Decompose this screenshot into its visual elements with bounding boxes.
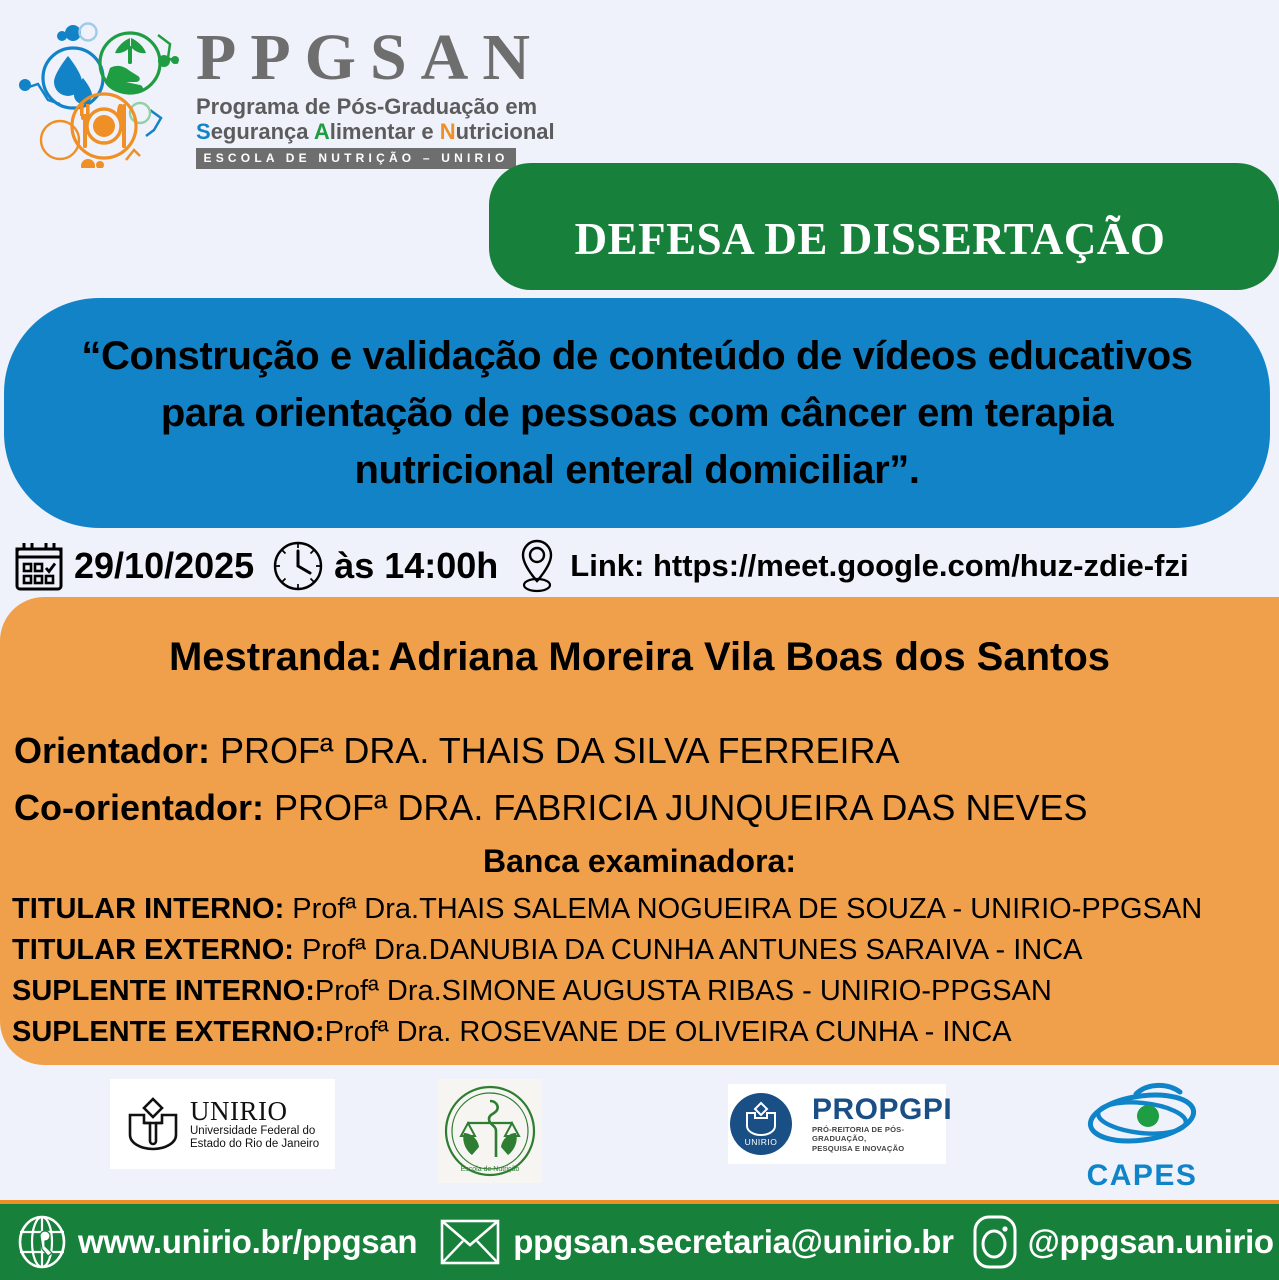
- sponsor-capes: CAPES: [1062, 1082, 1222, 1182]
- dissertation-title-line1: “Construção e validação de conteúdo de v…: [30, 328, 1244, 385]
- ppgsan-school-strip: ESCOLA DE NUTRIÇÃO – UNIRIO: [196, 148, 516, 169]
- dissertation-title-line3: nutricional enteral domiciliar”.: [30, 442, 1244, 499]
- sponsor-unirio-name: UNIRIO: [190, 1097, 319, 1125]
- sponsor-unirio-sub1: Universidade Federal do: [190, 1125, 319, 1138]
- banca-item: TITULAR INTERNO: Profª Dra.THAIS SALEMA …: [12, 889, 1272, 930]
- event-time-text: às 14:00h: [334, 545, 498, 587]
- sponsor-logos: UNIRIO Universidade Federal do Estado do…: [0, 1078, 1279, 1190]
- svg-text:Escola de Nutrição: Escola de Nutrição: [461, 1166, 520, 1173]
- event-date-text: 29/10/2025: [74, 545, 254, 587]
- event-type-banner: DEFESA DE DISSERTAÇÃO: [489, 163, 1279, 290]
- orientador-name: PROFª DRA. THAIS DA SILVA FERREIRA: [210, 730, 899, 771]
- banca-role: TITULAR EXTERNO:: [12, 934, 294, 966]
- propgpi-crest-icon: UNIRIO: [728, 1091, 794, 1157]
- footer-instagram[interactable]: @ppgsan.unirio: [972, 1214, 1274, 1270]
- banca-item: TITULAR EXTERNO: Profª Dra.DANUBIA DA CU…: [12, 930, 1272, 971]
- banca-role: SUPLENTE INTERNO:: [12, 975, 315, 1007]
- ppgsan-tagline-line2: Segurança Alimentar e Nutricional: [196, 119, 516, 145]
- banca-list: TITULAR INTERNO: Profª Dra.THAIS SALEMA …: [12, 889, 1272, 1053]
- sponsor-propgpi: UNIRIO PROPGPI PRÓ-REITORIA DE PÓS-GRADU…: [728, 1084, 946, 1164]
- ppgsan-logo-mark: [18, 18, 198, 168]
- details-panel: Mestranda:Adriana Moreira Vila Boas dos …: [0, 597, 1279, 1065]
- globe-icon: [16, 1214, 68, 1270]
- instagram-icon: [972, 1214, 1018, 1270]
- ppgsan-tagline-line1: Programa de Pós-Graduação em: [196, 94, 516, 119]
- svg-text:UNIRIO: UNIRIO: [745, 1137, 778, 1147]
- orientador-label: Orientador:: [14, 730, 210, 771]
- banca-name: Profª Dra.DANUBIA DA CUNHA ANTUNES SARAI…: [294, 934, 1083, 966]
- dissertation-title-banner: “Construção e validação de conteúdo de v…: [4, 298, 1270, 528]
- clock-icon: [272, 540, 324, 592]
- ppgsan-logo-graphic: [18, 18, 198, 168]
- sponsor-propgpi-sub2: PESQUISA E INOVAÇÃO: [812, 1144, 952, 1154]
- sponsor-escola-nutricao: Escola de Nutrição: [438, 1079, 542, 1183]
- footer-email[interactable]: ppgsan.secretaria@unirio.br: [439, 1217, 953, 1267]
- banca-role: TITULAR INTERNO:: [12, 893, 284, 925]
- sponsor-unirio: UNIRIO Universidade Federal do Estado do…: [110, 1079, 335, 1169]
- footer-contact-bar: www.unirio.br/ppgsan ppgsan.secretaria@u…: [0, 1204, 1279, 1280]
- sponsor-capes-name: CAPES: [1062, 1159, 1222, 1193]
- coorientador-label: Co-orientador:: [14, 787, 264, 828]
- banca-role: SUPLENTE EXTERNO:: [12, 1016, 325, 1048]
- banca-name: Profª Dra.SIMONE AUGUSTA RIBAS - UNIRIO-…: [315, 975, 1052, 1007]
- unirio-crest-icon: [122, 1093, 184, 1155]
- envelope-icon: [439, 1217, 501, 1267]
- mestranda-name: Adriana Moreira Vila Boas dos Santos: [388, 635, 1110, 679]
- location-pin-icon: [514, 538, 560, 594]
- banca-name: Profª Dra. ROSEVANE DE OLIVEIRA CUNHA - …: [325, 1016, 1012, 1048]
- escola-nutricao-seal-icon: Escola de Nutrição: [442, 1083, 538, 1179]
- event-link-text[interactable]: Link: https://meet.google.com/huz-zdie-f…: [570, 548, 1188, 584]
- capes-ellipse-icon: [1062, 1082, 1222, 1152]
- header: PPGSAN Programa de Pós-Graduação em Segu…: [0, 0, 1279, 175]
- calendar-icon: [14, 540, 64, 592]
- banca-name: Profª Dra.THAIS SALEMA NOGUEIRA DE SOUZA…: [284, 893, 1202, 925]
- dissertation-title: “Construção e validação de conteúdo de v…: [30, 328, 1244, 499]
- mestranda-line: Mestranda:Adriana Moreira Vila Boas dos …: [0, 635, 1279, 680]
- ppgsan-logo-text: PPGSAN Programa de Pós-Graduação em Segu…: [196, 22, 516, 170]
- sponsor-unirio-sub2: Estado do Rio de Janeiro: [190, 1138, 319, 1151]
- footer-website[interactable]: www.unirio.br/ppgsan: [16, 1214, 417, 1270]
- mestranda-label: Mestranda:: [169, 635, 382, 679]
- sponsor-propgpi-name: PROPGPI: [812, 1095, 952, 1125]
- orientador-line: Orientador: PROFª DRA. THAIS DA SILVA FE…: [14, 730, 900, 772]
- event-link[interactable]: Link: https://meet.google.com/huz-zdie-f…: [514, 538, 1188, 594]
- footer-instagram-text[interactable]: @ppgsan.unirio: [1028, 1223, 1274, 1261]
- event-date: 29/10/2025: [14, 540, 254, 592]
- event-time: às 14:00h: [272, 540, 498, 592]
- coorientador-line: Co-orientador: PROFª DRA. FABRICIA JUNQU…: [14, 787, 1087, 829]
- footer-email-text[interactable]: ppgsan.secretaria@unirio.br: [513, 1223, 953, 1261]
- event-meta-row: 29/10/2025 às 14:00h Link: https://meet.…: [14, 535, 1279, 597]
- sponsor-propgpi-sub1: PRÓ-REITORIA DE PÓS-GRADUAÇÃO,: [812, 1125, 952, 1144]
- poster: PPGSAN Programa de Pós-Graduação em Segu…: [0, 0, 1279, 1280]
- banca-heading: Banca examinadora:: [0, 843, 1279, 880]
- event-type-label: DEFESA DE DISSERTAÇÃO: [489, 213, 1251, 265]
- banca-item: SUPLENTE EXTERNO:Profª Dra. ROSEVANE DE …: [12, 1012, 1272, 1053]
- footer-website-text[interactable]: www.unirio.br/ppgsan: [78, 1223, 417, 1261]
- ppgsan-acronym: PPGSAN: [196, 22, 516, 94]
- banca-item: SUPLENTE INTERNO:Profª Dra.SIMONE AUGUST…: [12, 971, 1272, 1012]
- coorientador-name: PROFª DRA. FABRICIA JUNQUEIRA DAS NEVES: [264, 787, 1088, 828]
- dissertation-title-line2: para orientação de pessoas com câncer em…: [30, 385, 1244, 442]
